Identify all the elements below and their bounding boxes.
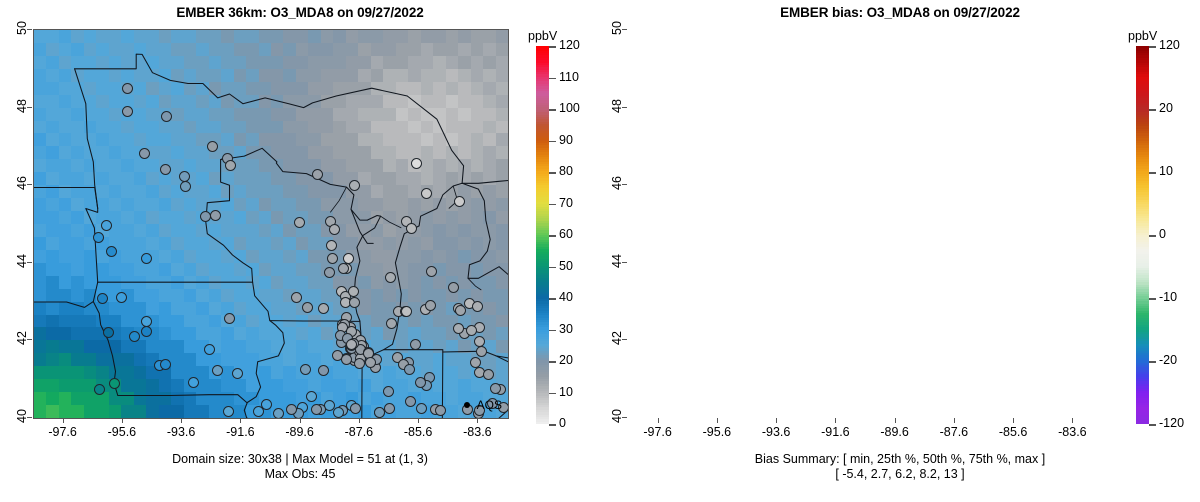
aqs-site-marker xyxy=(421,188,432,199)
colorbar-tick xyxy=(1149,361,1156,363)
x-tick xyxy=(1072,418,1073,423)
aqs-site-marker xyxy=(343,253,354,264)
y-tick-label: 50 xyxy=(610,11,624,45)
x-tick-label: -93.6 xyxy=(151,425,211,439)
aqs-site-marker xyxy=(200,211,211,222)
aqs-site-marker xyxy=(410,339,421,350)
aqs-site-marker xyxy=(225,160,236,171)
x-tick-label: -85.6 xyxy=(983,425,1043,439)
aqs-site-marker xyxy=(416,403,427,414)
x-tick-label: -95.6 xyxy=(92,425,152,439)
x-tick xyxy=(835,418,836,423)
aqs-site-marker xyxy=(349,297,360,308)
colorbar-tick xyxy=(549,267,556,269)
colorbar-tick xyxy=(549,330,556,332)
x-tick-label: -97.6 xyxy=(628,425,688,439)
aqs-site-marker xyxy=(294,217,305,228)
state-boundary-line xyxy=(247,418,268,419)
aqs-site-marker xyxy=(306,391,317,402)
x-tick-label: -87.6 xyxy=(329,425,389,439)
x-tick xyxy=(122,418,123,423)
colorbar-tick-label: 10 xyxy=(559,385,573,399)
colorbar-tick xyxy=(1149,109,1156,111)
x-tick-label: -89.6 xyxy=(865,425,925,439)
aqs-site-marker xyxy=(326,240,337,251)
aqs-site-marker xyxy=(223,406,234,417)
colorbar-segment xyxy=(1136,422,1149,425)
aqs-site-marker xyxy=(327,253,338,264)
aqs-site-marker xyxy=(180,181,191,192)
aqs-site-marker xyxy=(349,180,360,191)
aqs-site-marker xyxy=(425,300,436,311)
colorbar-tick xyxy=(1149,172,1156,174)
aqs-site-marker xyxy=(338,263,349,274)
colorbar-tick-label: 110 xyxy=(559,70,579,84)
aqs-site-marker xyxy=(435,405,446,416)
colorbar-tick-label: 60 xyxy=(559,227,573,241)
map-axes-model: AQS xyxy=(33,29,509,419)
colorbar-model-title: ppbV xyxy=(528,29,557,43)
y-tick-label: 44 xyxy=(610,244,624,278)
aqs-site-marker xyxy=(207,141,218,152)
x-tick xyxy=(359,418,360,423)
colorbar-tick xyxy=(1149,235,1156,237)
aqs-site-marker xyxy=(212,365,223,376)
x-tick xyxy=(658,418,659,423)
colorbar-tick-label: 20 xyxy=(1159,101,1173,115)
x-tick-label: -87.6 xyxy=(924,425,984,439)
colorbar-tick xyxy=(549,361,556,363)
aqs-site-marker xyxy=(232,368,243,379)
colorbar-tick-label: -10 xyxy=(1159,290,1177,304)
aqs-site-marker xyxy=(139,148,150,159)
aqs-site-marker xyxy=(141,316,152,327)
colorbar-tick xyxy=(1149,298,1156,300)
x-tick-label: -83.6 xyxy=(1042,425,1102,439)
colorbar-tick-label: -20 xyxy=(1159,353,1177,367)
aqs-site-marker xyxy=(404,364,415,375)
panel-right-title: EMBER bias: O3_MDA8 on 09/27/2022 xyxy=(600,5,1200,20)
aqs-site-marker xyxy=(224,313,235,324)
colorbar-tick-label: 120 xyxy=(559,38,580,52)
aqs-site-marker xyxy=(476,346,487,357)
colorbar-tick xyxy=(549,109,556,111)
caption-model-line1: Domain size: 30x38 | Max Model = 51 at (… xyxy=(0,452,600,467)
colorbar-bias: ppbV -120-20-1001020120 xyxy=(1128,29,1200,429)
colorbar-tick xyxy=(549,393,556,395)
x-tick-label: -91.6 xyxy=(210,425,270,439)
state-boundary-line xyxy=(75,54,508,183)
aqs-marker-icon xyxy=(464,402,470,408)
aqs-legend-label: AQS xyxy=(477,398,502,412)
colorbar-tick-label: 40 xyxy=(559,290,573,304)
x-tick-label: -91.6 xyxy=(805,425,865,439)
y-tick-label: 46 xyxy=(15,166,29,200)
coastline-detail xyxy=(381,216,402,228)
colorbar-tick-label: 50 xyxy=(559,259,573,273)
y-tick-label: 46 xyxy=(610,166,624,200)
x-tick xyxy=(717,418,718,423)
y-tick-label: 50 xyxy=(15,11,29,45)
panel-left-title: EMBER 36km: O3_MDA8 on 09/27/2022 xyxy=(0,5,600,20)
colorbar-tick-label: 90 xyxy=(559,133,573,147)
aqs-site-marker xyxy=(141,326,152,337)
aqs-site-marker xyxy=(311,404,322,415)
aqs-site-marker xyxy=(97,293,108,304)
y-tick-label: 42 xyxy=(610,321,624,355)
aqs-site-marker xyxy=(188,377,199,388)
state-boundary-line xyxy=(75,69,98,282)
figure-canvas: EMBER 36km: O3_MDA8 on 09/27/2022 AQS -9… xyxy=(0,0,1200,502)
colorbar-tick xyxy=(549,141,556,143)
x-tick-label: -97.6 xyxy=(33,425,93,439)
aqs-site-marker xyxy=(346,339,357,350)
colorbar-tick xyxy=(549,78,556,80)
aqs-legend-model: AQS xyxy=(464,398,502,412)
state-boundary-line xyxy=(354,183,462,355)
aqs-site-marker xyxy=(103,327,114,338)
aqs-site-marker xyxy=(109,378,120,389)
aqs-site-marker xyxy=(454,196,465,207)
panel-model: EMBER 36km: O3_MDA8 on 09/27/2022 AQS -9… xyxy=(0,0,600,502)
x-tick xyxy=(300,418,301,423)
aqs-site-marker xyxy=(210,210,221,221)
y-tick-label: 40 xyxy=(610,399,624,433)
aqs-site-marker xyxy=(291,292,302,303)
y-tick-label: 42 xyxy=(15,321,29,355)
x-tick xyxy=(477,418,478,423)
x-tick xyxy=(418,418,419,423)
coastline-detail xyxy=(330,187,346,212)
caption-bias-line1: Bias Summary: [ min, 25th %, 50th %, 75t… xyxy=(600,452,1200,467)
x-tick-label: -95.6 xyxy=(687,425,747,439)
aqs-site-marker xyxy=(472,301,483,312)
x-tick xyxy=(954,418,955,423)
y-tick-label: 48 xyxy=(610,89,624,123)
aqs-site-marker xyxy=(129,331,140,342)
aqs-site-marker xyxy=(384,403,395,414)
state-boundary-line xyxy=(244,282,284,418)
aqs-site-marker xyxy=(365,357,376,368)
aqs-site-marker xyxy=(348,286,359,297)
state-boundary-line xyxy=(34,188,98,209)
aqs-site-marker xyxy=(470,357,481,368)
panel-bias: EMBER bias: O3_MDA8 on 09/27/2022 AQS -9… xyxy=(600,0,1200,502)
aqs-site-marker xyxy=(106,246,117,257)
colorbar-tick-label: 100 xyxy=(559,101,580,115)
aqs-site-marker xyxy=(350,403,361,414)
state-boundary-line xyxy=(118,395,247,403)
y-tick-label: 44 xyxy=(15,244,29,278)
x-tick-label: -93.6 xyxy=(746,425,806,439)
caption-model-line2: Max Obs: 45 xyxy=(0,467,600,482)
y-tick-label: 40 xyxy=(15,399,29,433)
aqs-site-marker xyxy=(302,302,313,313)
colorbar-bias-title: ppbV xyxy=(1128,29,1157,43)
aqs-site-marker xyxy=(324,267,335,278)
colorbar-tick-label: 10 xyxy=(1159,164,1173,178)
aqs-site-marker xyxy=(426,266,437,277)
colorbar-tick xyxy=(549,424,556,426)
aqs-site-marker xyxy=(453,323,464,334)
state-boundary-line xyxy=(462,183,508,278)
caption-bias-line2: [ -5.4, 2.7, 6.2, 8.2, 13 ] xyxy=(600,467,1200,482)
x-tick-label: -83.6 xyxy=(447,425,507,439)
state-boundary-line xyxy=(34,302,93,308)
x-tick xyxy=(895,418,896,423)
colorbar-tick xyxy=(549,298,556,300)
aqs-site-marker xyxy=(318,365,329,376)
colorbar-tick xyxy=(1149,46,1156,48)
x-tick xyxy=(240,418,241,423)
y-tick-label: 48 xyxy=(15,89,29,123)
colorbar-tick-label: 80 xyxy=(559,164,573,178)
coastline-detail xyxy=(468,278,481,290)
x-tick xyxy=(1013,418,1014,423)
x-tick xyxy=(63,418,64,423)
colorbar-tick xyxy=(549,46,556,48)
aqs-site-marker xyxy=(341,354,352,365)
colorbar-tick-label: 0 xyxy=(559,416,566,430)
x-tick xyxy=(776,418,777,423)
aqs-site-marker xyxy=(179,171,190,182)
colorbar-tick-label: 120 xyxy=(1159,38,1180,52)
colorbar-tick-label: 30 xyxy=(559,322,573,336)
colorbar-tick-label: 70 xyxy=(559,196,573,210)
aqs-site-marker xyxy=(161,111,172,122)
aqs-site-marker xyxy=(253,406,264,417)
colorbar-tick-label: 0 xyxy=(1159,227,1166,241)
x-tick-label: -89.6 xyxy=(270,425,330,439)
x-tick xyxy=(181,418,182,423)
colorbar-tick xyxy=(549,235,556,237)
state-boundary-line xyxy=(221,148,368,220)
colorbar-tick-label: 20 xyxy=(559,353,573,367)
aqs-site-marker xyxy=(385,272,396,283)
x-tick-label: -85.6 xyxy=(388,425,448,439)
colorbar-tick xyxy=(1149,424,1156,426)
aqs-site-marker xyxy=(405,396,416,407)
colorbar-tick xyxy=(549,204,556,206)
state-boundary-line xyxy=(351,209,373,243)
colorbar-tick xyxy=(549,172,556,174)
aqs-site-marker xyxy=(329,224,340,235)
aqs-site-marker xyxy=(354,358,365,369)
aqs-site-marker xyxy=(122,83,133,94)
aqs-site-marker xyxy=(401,306,412,317)
colorbar-segment xyxy=(536,422,549,425)
aqs-site-marker xyxy=(415,377,426,388)
colorbar-tick-label: -120 xyxy=(1159,416,1184,430)
